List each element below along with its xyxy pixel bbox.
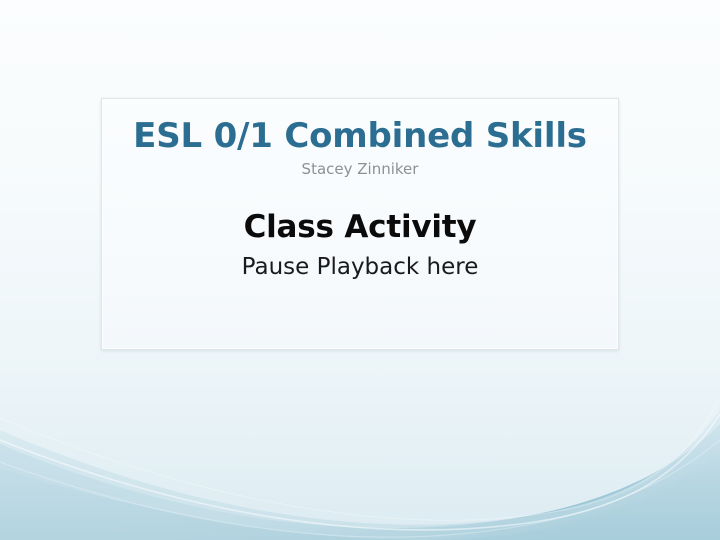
wave-band-pale [0,410,720,540]
activity-heading: Class Activity [102,209,618,245]
activity-instruction: Pause Playback here [102,253,618,281]
wave-crest-highlight-3 [0,398,720,520]
wave-band-mid [0,424,720,540]
slide-content-card: ESL 0/1 Combined Skills Stacey Zinniker … [101,98,619,350]
wave-crest-highlight-2 [0,440,720,537]
page-title: ESL 0/1 Combined Skills [102,117,618,155]
presentation-slide: ESL 0/1 Combined Skills Stacey Zinniker … [0,0,720,540]
wave-crest-highlight-1 [0,414,720,530]
slide-author: Stacey Zinniker [102,159,618,179]
wave-band-deep [0,452,720,540]
